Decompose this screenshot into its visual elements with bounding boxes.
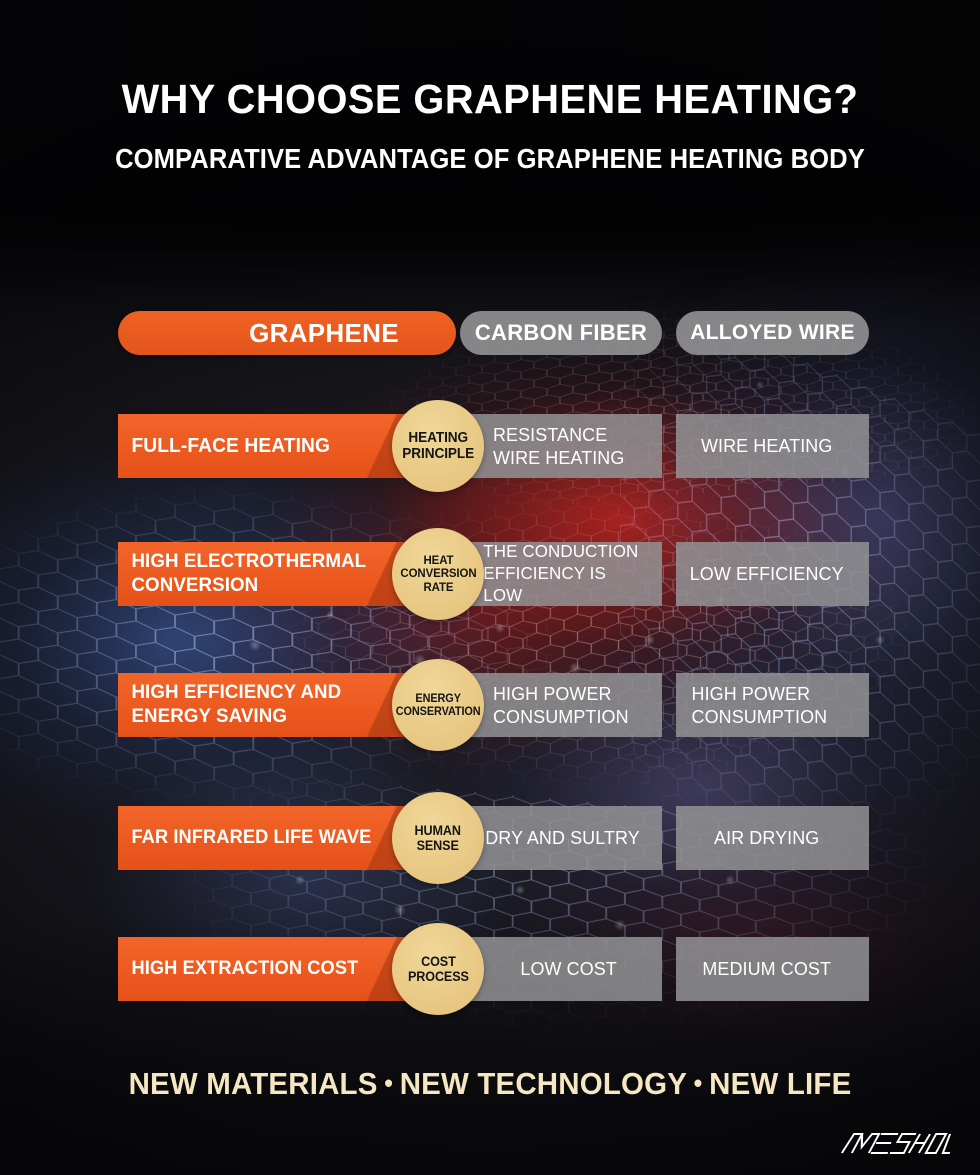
column-header-row: GRAPHENE CARBON FIBER ALLOYED WIRE (0, 311, 980, 355)
cell-alloyed-wire[interactable]: AIR DRYING (676, 806, 869, 870)
tagline-separator-1: • (378, 1068, 400, 1098)
cell-graphene-label: HIGH ELECTROTHERMAL CONVERSION (118, 550, 420, 598)
cell-graphene-label: FAR INFRARED LIFE WAVE (118, 826, 425, 849)
page-title: WHY CHOOSE GRAPHENE HEATING? (15, 78, 966, 121)
column-header-alloyed-wire[interactable]: ALLOYED WIRE (676, 311, 869, 355)
cell-graphene-label: FULL-FACE HEATING (118, 434, 384, 458)
table-row: FAR INFRARED LIFE WAVE DRY AND SULTRY AI… (0, 806, 980, 870)
cell-alloyed-wire-label: MEDIUM COST (676, 957, 863, 980)
column-header-graphene[interactable]: GRAPHENE (118, 311, 456, 355)
table-row: HIGH EFFICIENCY AND ENERGY SAVING HIGH P… (0, 673, 980, 737)
cell-alloyed-wire[interactable]: WIRE HEATING (676, 414, 869, 478)
cell-carbon-fiber[interactable]: RESISTANCE WIRE HEATING (460, 414, 662, 478)
table-row: FULL-FACE HEATING RESISTANCE WIRE HEATIN… (0, 414, 980, 478)
criterion-badge-label: HUMAN SENSE (415, 823, 461, 853)
criterion-badge-label: HEAT CONVERSION RATE (400, 554, 476, 595)
table-row: HIGH ELECTROTHERMAL CONVERSION THE CONDU… (0, 542, 980, 606)
cell-carbon-fiber[interactable]: HIGH POWER CONSUMPTION (460, 673, 662, 737)
cell-carbon-fiber-label: THE CONDUCTION EFFICIENCY IS LOW (460, 541, 656, 607)
cell-alloyed-wire-label: WIRE HEATING (676, 434, 863, 457)
cell-graphene-label: HIGH EXTRACTION COST (118, 957, 412, 980)
criterion-badge-label: COST PROCESS (408, 954, 469, 984)
criterion-badge-cost-process[interactable]: COST PROCESS (392, 923, 484, 1015)
tagline-part-3: NEW LIFE (709, 1066, 851, 1101)
cell-alloyed-wire[interactable]: HIGH POWER CONSUMPTION (676, 673, 869, 737)
cell-alloyed-wire-label: HIGH POWER CONSUMPTION (676, 682, 863, 728)
cell-carbon-fiber-label: HIGH POWER CONSUMPTION (460, 682, 640, 728)
column-header-graphene-label: GRAPHENE (175, 318, 399, 349)
header-block: WHY CHOOSE GRAPHENE HEATING? COMPARATIVE… (0, 78, 980, 175)
criterion-badge-human-sense[interactable]: HUMAN SENSE (392, 792, 484, 884)
cell-alloyed-wire-label: LOW EFFICIENCY (676, 562, 863, 585)
criterion-badge-energy-conservation[interactable]: ENERGY CONSERVATION (392, 659, 484, 751)
cell-carbon-fiber[interactable]: LOW COST (460, 937, 662, 1001)
cell-carbon-fiber-label: LOW COST (460, 957, 656, 980)
criterion-badge-label: ENERGY CONSERVATION (396, 692, 481, 718)
cell-carbon-fiber-label: RESISTANCE WIRE HEATING (460, 423, 636, 469)
cell-carbon-fiber-label: DRY AND SULTRY (460, 826, 651, 849)
meshow-logo (834, 1128, 952, 1158)
cell-alloyed-wire[interactable]: MEDIUM COST (676, 937, 869, 1001)
criterion-badge-label: HEATING PRINCIPLE (402, 430, 474, 462)
column-header-carbon-fiber-label: CARBON FIBER (475, 320, 647, 346)
tagline-part-1: NEW MATERIALS (129, 1066, 378, 1101)
infographic-poster: WHY CHOOSE GRAPHENE HEATING? COMPARATIVE… (0, 0, 980, 1175)
column-header-alloyed-wire-label: ALLOYED WIRE (690, 321, 855, 345)
table-row: HIGH EXTRACTION COST LOW COST MEDIUM COS… (0, 937, 980, 1001)
criterion-badge-heat-conversion-rate[interactable]: HEAT CONVERSION RATE (392, 528, 484, 620)
cell-carbon-fiber[interactable]: DRY AND SULTRY (460, 806, 662, 870)
cell-alloyed-wire-label: AIR DRYING (676, 826, 863, 849)
cell-alloyed-wire[interactable]: LOW EFFICIENCY (676, 542, 869, 606)
criterion-badge-heating-principle[interactable]: HEATING PRINCIPLE (392, 400, 484, 492)
cell-graphene-label: HIGH EFFICIENCY AND ENERGY SAVING (118, 681, 395, 729)
cell-carbon-fiber[interactable]: THE CONDUCTION EFFICIENCY IS LOW (460, 542, 662, 606)
tagline-separator-2: • (687, 1068, 709, 1098)
page-subtitle: COMPARATIVE ADVANTAGE OF GRAPHENE HEATIN… (34, 143, 945, 175)
footer-tagline: NEW MATERIALS•NEW TECHNOLOGY•NEW LIFE (25, 1066, 956, 1102)
tagline-part-2: NEW TECHNOLOGY (400, 1066, 687, 1101)
column-header-carbon-fiber[interactable]: CARBON FIBER (460, 311, 662, 355)
